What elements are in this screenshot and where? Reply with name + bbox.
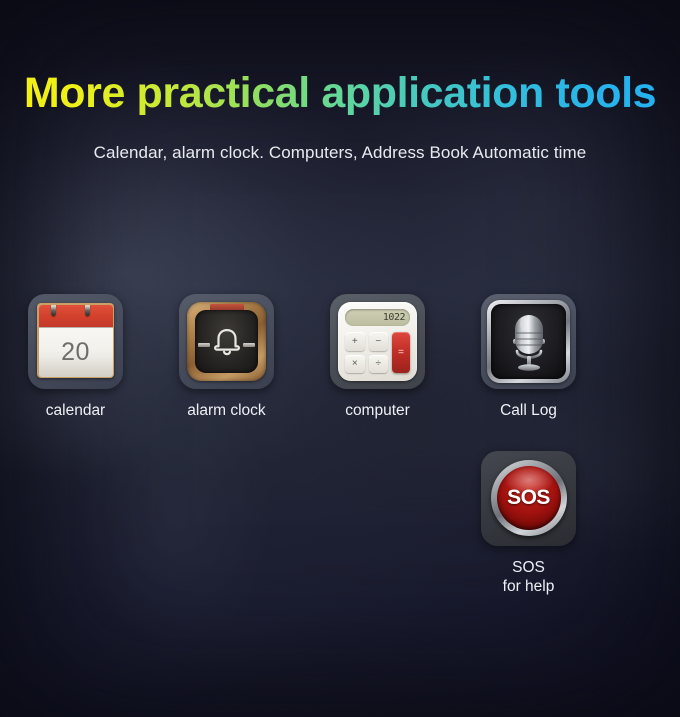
app-item-computer[interactable]: 1022 + − × ÷ = computer: [302, 294, 453, 421]
calendar-icon[interactable]: 20: [28, 294, 123, 389]
sos-button-text: SOS: [507, 486, 550, 510]
app-icon-grid: 20 calendar: [0, 294, 680, 597]
app-label-calendar: calendar: [46, 402, 105, 421]
alarm-side-bar-right: [243, 343, 255, 347]
app-row-2: SOS SOS for help: [0, 451, 680, 597]
app-row-1: 20 calendar: [0, 294, 680, 421]
app-label-call-log: Call Log: [500, 402, 557, 421]
calculator-keypad: + − × ÷ =: [345, 332, 410, 373]
mic-glyph-icon: [500, 309, 558, 375]
calendar-gloss: [39, 358, 113, 377]
microphone-icon[interactable]: [481, 294, 576, 389]
calculator-key-equals[interactable]: =: [392, 332, 410, 373]
sos-button-icon[interactable]: SOS: [481, 451, 576, 546]
alarm-clock-icon[interactable]: [179, 294, 274, 389]
calendar-page: 20: [39, 305, 113, 377]
page-title: More practical application tools: [0, 72, 680, 115]
page-subtitle: Calendar, alarm clock. Computers, Addres…: [0, 143, 680, 163]
calculator-key-plus[interactable]: +: [345, 332, 365, 351]
app-label-computer: computer: [345, 402, 410, 421]
sos-bezel: SOS: [491, 460, 567, 536]
calculator-operator-keys: + − × ÷: [345, 332, 388, 373]
sos-button[interactable]: SOS: [497, 466, 561, 530]
calendar-ring-icon: [85, 305, 90, 316]
calculator-icon[interactable]: 1022 + − × ÷ =: [330, 294, 425, 389]
alarm-clock-frame: [187, 302, 266, 381]
page-header: More practical application tools Calenda…: [0, 0, 680, 163]
calculator-display: 1022: [345, 309, 410, 326]
calendar-frame: 20: [37, 303, 114, 378]
app-item-sos[interactable]: SOS SOS for help: [453, 451, 604, 597]
bell-icon: [210, 325, 244, 359]
alarm-side-bar-left: [198, 343, 210, 347]
app-label-alarm-clock: alarm clock: [187, 402, 265, 421]
calculator-key-minus[interactable]: −: [369, 332, 389, 351]
alarm-clock-face: [195, 310, 258, 373]
app-item-alarm-clock[interactable]: alarm clock: [151, 294, 302, 421]
app-item-calendar[interactable]: 20 calendar: [0, 294, 151, 421]
calendar-ring-icon: [51, 305, 56, 316]
calendar-header-band: [39, 305, 113, 329]
app-item-call-log[interactable]: Call Log: [453, 294, 604, 421]
calculator-key-multiply[interactable]: ×: [345, 355, 365, 374]
microphone-face: [491, 304, 566, 379]
app-label-sos: SOS for help: [503, 559, 555, 597]
microphone-frame: [487, 300, 570, 383]
calculator-body: 1022 + − × ÷ =: [338, 302, 417, 381]
app-showcase-page: More practical application tools Calenda…: [0, 0, 680, 717]
calculator-key-divide[interactable]: ÷: [369, 355, 389, 374]
